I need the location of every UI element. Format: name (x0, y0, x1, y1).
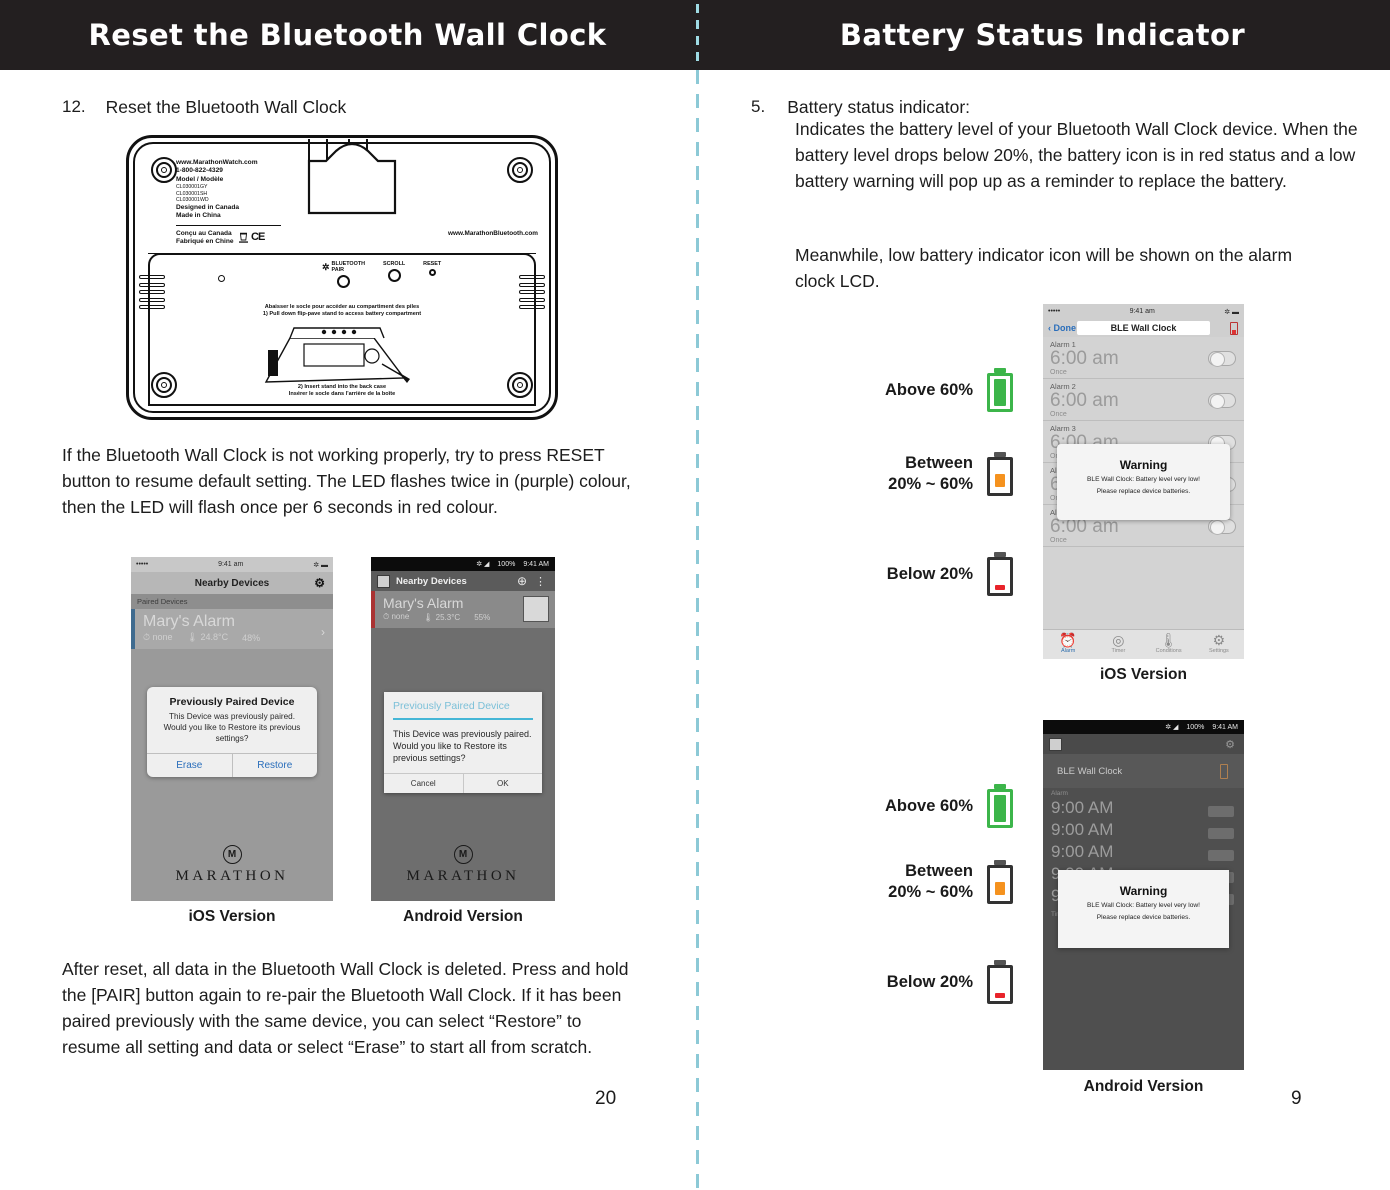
tab-conditions[interactable]: 🌡 Conditions (1144, 630, 1194, 659)
android2-action-bar: ⚙ (1043, 734, 1244, 754)
ios-dialog-buttons: Erase Restore (147, 753, 317, 777)
battery-full-icon (987, 368, 1013, 412)
scroll-button[interactable]: SCROLL (383, 261, 405, 282)
android-humidity: 55% (474, 613, 490, 622)
kebab-menu-icon[interactable]: ⋮ (535, 575, 546, 588)
clock-button-row: ✲ BLUETOOTH PAIR SCROLL RESET (322, 261, 441, 288)
battery-label-high: Above 60% (845, 380, 973, 401)
battery-legend-medium-1: Between 20% ~ 60% (845, 452, 1013, 496)
tab-settings-label: Settings (1194, 648, 1244, 654)
android2-caption: Android Version (1043, 1078, 1244, 1096)
ios-caption: iOS Version (131, 908, 333, 926)
list-item[interactable]: Alarm 1 6:00 am Once (1043, 337, 1244, 379)
pair-button-circle[interactable] (337, 275, 350, 288)
battery-low-icon (1220, 764, 1228, 779)
label-model-3: CL030001WD (176, 197, 326, 204)
ios-device-row[interactable]: Mary's Alarm ⏱ none 🌡 24.8°C 48% › (131, 609, 333, 649)
android-brand-block: M MARATHON (371, 829, 555, 901)
battery-empty-icon (987, 552, 1013, 596)
alarm-toggle[interactable] (1208, 850, 1234, 861)
plus-circle-icon[interactable]: ⊕ (517, 574, 527, 588)
ios-battery-icon: ✲ ▬ (313, 561, 328, 569)
ios2-status-bar: ••••• 9:41 am ✲ ▬ (1043, 304, 1244, 319)
ios2-status-time: 9:41 am (1130, 308, 1155, 315)
ios-status-bar: ••••• 9:41 am ✲ ▬ (131, 557, 333, 572)
list-item[interactable]: 9:00 AM (1043, 841, 1244, 863)
right-paragraph-1: Indicates the battery level of your Blue… (795, 116, 1360, 194)
android2-title: BLE Wall Clock (1057, 766, 1122, 777)
ios-device-meta: ⏱ none 🌡 24.8°C 48% (143, 632, 327, 643)
right-page: 5. Battery status indicator: Indicates t… (699, 70, 1390, 1190)
android-clock-screenshot: ✲ ◢ 100% 9:41 AM ⚙ BLE Wall Clock Alarm … (1043, 720, 1244, 1070)
label-model-2: CL030001SH (176, 191, 326, 198)
android-status-bar: ✲ ◢ 100% 9:41 AM (371, 557, 555, 571)
android-chart-thumb (523, 596, 549, 622)
ok-button[interactable]: OK (463, 774, 543, 793)
battery-half-icon (987, 860, 1013, 904)
battery-label-low: Below 20% (845, 972, 973, 993)
alarm-repeat: Once (1050, 537, 1237, 544)
ios2-signal-dots: ••••• (1048, 308, 1060, 315)
ce-mark-icon: CE (251, 231, 264, 243)
header-left: Reset the Bluetooth Wall Clock (0, 0, 695, 70)
ios-alarm-status: ⏱ none (143, 632, 173, 643)
weee-bin-icon (239, 231, 248, 243)
chevron-right-icon: › (321, 625, 325, 639)
label-model-1: CL030001GY (176, 184, 326, 191)
battery-low-red-icon (1230, 322, 1238, 335)
ios-brand-block: M MARATHON (131, 829, 333, 901)
warning-title: Warning (1057, 444, 1230, 472)
battery-label-medium: Between 20% ~ 60% (845, 861, 973, 903)
stand-note2-fr: Insérer le socle dans l'arrière de la bo… (126, 391, 558, 398)
battery-legend-high-2: Above 60% (845, 784, 1013, 828)
right-step-number: 5. (751, 94, 765, 120)
marathon-logo-icon: M (223, 845, 242, 864)
gear-icon[interactable]: ⚙ (314, 576, 325, 590)
ios-dialog-body: This Device was previously paired. Would… (147, 711, 317, 753)
alarm-toggle[interactable] (1208, 519, 1236, 534)
android2-status-time: 9:41 AM (1212, 724, 1238, 731)
label-bluetooth-website: www.MarathonBluetooth.com (448, 230, 538, 237)
ios-temp: 🌡 24.8°C (187, 632, 229, 643)
screw-top-right (507, 157, 533, 183)
gear-icon: ⚙ (1194, 633, 1244, 648)
android2-device-header: BLE Wall Clock (1043, 754, 1244, 788)
battery-legend-low-2: Below 20% (845, 960, 1013, 1004)
done-button[interactable]: ‹ Done (1048, 323, 1076, 333)
tab-conditions-label: Conditions (1144, 648, 1194, 654)
ios2-title: BLE Wall Clock (1077, 321, 1210, 335)
ios-status-time: 9:41 am (218, 561, 243, 568)
android2-status-bar: ✲ ◢ 100% 9:41 AM (1043, 720, 1244, 734)
battery-legend-medium-2: Between 20% ~ 60% (845, 860, 1013, 904)
clock-back-diagram: www.MarathonWatch.com 1-800-822-4329 Mod… (126, 135, 558, 420)
android-temp: 🌡 25.3°C (423, 613, 460, 622)
thermometer-icon: 🌡 (1144, 633, 1194, 648)
label-made: Made in China (176, 212, 326, 220)
android-caption: Android Version (371, 908, 555, 926)
label-phone: 1-800-822-4329 (176, 167, 326, 175)
ios-nav-bar: Nearby Devices ⚙ (131, 572, 333, 594)
battery-half-icon (987, 452, 1013, 496)
reset-label: RESET (423, 261, 441, 267)
tab-alarm-label: Alarm (1043, 648, 1093, 654)
android-dialog-title: Previously Paired Device (384, 692, 542, 718)
tab-timer-label: Timer (1093, 648, 1143, 654)
android2-status-icons: ✲ ◢ (1165, 723, 1178, 731)
ios-paired-dialog: Previously Paired Device This Device was… (147, 687, 317, 777)
android-paired-dialog: Previously Paired Device This Device was… (384, 692, 542, 793)
android-alarm-status: ⏱ none (383, 612, 409, 622)
android-warning-dialog: Warning BLE Wall Clock: Battery level ve… (1058, 870, 1229, 948)
scroll-button-circle[interactable] (388, 269, 401, 282)
android2-section-alarm: Alarm (1043, 788, 1244, 797)
battery-legend-high-1: Above 60% (845, 368, 1013, 412)
ios-device-name: Mary's Alarm (143, 613, 327, 631)
header-title-right: Battery Status Indicator (840, 18, 1245, 52)
label-model: Model / Modèle (176, 176, 326, 184)
left-step-title: Reset the Bluetooth Wall Clock (106, 94, 347, 120)
battery-legend-low-1: Below 20% (845, 552, 1013, 596)
android-status-time: 9:41 AM (523, 561, 549, 568)
app-icon (377, 575, 390, 588)
ios2-caption: iOS Version (1043, 666, 1244, 684)
android2-status-battery: 100% (1186, 724, 1204, 731)
panel-top-line (148, 253, 536, 254)
warning-title: Warning (1058, 870, 1229, 898)
android-status-icons: ✲ ◢ (476, 560, 489, 568)
ios2-battery-icon: ✲ ▬ (1224, 308, 1239, 316)
marathon-logo-icon: M (454, 845, 473, 864)
android-nav-title: Nearby Devices (396, 576, 467, 587)
android-dialog-buttons: Cancel OK (384, 773, 542, 793)
header-right: Battery Status Indicator (695, 0, 1390, 70)
ios-clock-screenshot: ••••• 9:41 am ✲ ▬ ‹ Done BLE Wall Clock … (1043, 304, 1244, 659)
marathon-wordmark: MARATHON (175, 868, 288, 885)
left-step-number: 12. (62, 94, 86, 120)
marathon-wordmark: MARATHON (406, 868, 519, 885)
right-page-number: 9 (1291, 1088, 1302, 1110)
erase-button[interactable]: Erase (147, 754, 232, 777)
ios-tab-bar: ⏰ Alarm ◎ Timer 🌡 Conditions ⚙ Settings (1043, 629, 1244, 659)
sensor-hole (218, 275, 225, 282)
warning-line-2: Please replace device batteries. (1057, 484, 1230, 496)
tab-alarm[interactable]: ⏰ Alarm (1043, 630, 1093, 659)
battery-label-high: Above 60% (845, 796, 973, 817)
tab-settings[interactable]: ⚙ Settings (1194, 630, 1244, 659)
warning-line-1: BLE Wall Clock: Battery level very low! (1058, 898, 1229, 910)
alarm-clock-icon: ⏰ (1043, 633, 1093, 648)
ios-app-screenshot: ••••• 9:41 am ✲ ▬ Nearby Devices ⚙ Paire… (131, 557, 333, 901)
vent-left (139, 275, 165, 321)
list-item[interactable]: 9:00 AM (1043, 819, 1244, 841)
alarm-toggle[interactable] (1208, 806, 1234, 817)
battery-label-medium: Between 20% ~ 60% (845, 453, 973, 495)
label-website: www.MarathonWatch.com (176, 159, 326, 167)
stand-note-en: 1) Pull down flip-pave stand to access b… (126, 311, 558, 318)
android-device-row[interactable]: Mary's Alarm ⏱ none 🌡 25.3°C 55% (371, 591, 555, 628)
stand-instruction-bottom: 2) Insert stand into the back case Insér… (126, 384, 558, 398)
android-app-screenshot: ✲ ◢ 100% 9:41 AM Nearby Devices ⊕ ⋮ Mary… (371, 557, 555, 901)
stand-note2-en: 2) Insert stand into the back case (126, 384, 558, 391)
vent-right (519, 275, 545, 321)
list-item[interactable]: Alarm 2 6:00 am Once (1043, 379, 1244, 421)
ios-humidity: 48% (242, 633, 260, 643)
alarm-toggle[interactable] (1208, 351, 1236, 366)
tab-timer[interactable]: ◎ Timer (1093, 630, 1143, 659)
alarm-repeat: Once (1050, 411, 1237, 418)
android-dialog-body: This Device was previously paired. Would… (384, 720, 542, 773)
alarm-toggle[interactable] (1208, 393, 1236, 408)
app-icon (1049, 738, 1062, 751)
label-designed: Designed in Canada (176, 204, 326, 212)
android-action-bar: Nearby Devices ⊕ ⋮ (371, 571, 555, 591)
gear-icon[interactable]: ⚙ (1225, 738, 1235, 751)
right-paragraph-2: Meanwhile, low battery indicator icon wi… (795, 242, 1335, 294)
alarm-toggle[interactable] (1208, 828, 1234, 839)
left-page-number: 20 (595, 1088, 616, 1110)
left-page: 12. Reset the Bluetooth Wall Clock www.M… (0, 70, 696, 1190)
header-divider (696, 4, 699, 66)
battery-empty-icon (987, 960, 1013, 1004)
ios-dialog-title: Previously Paired Device (147, 687, 317, 711)
left-paragraph-2: After reset, all data in the Bluetooth W… (62, 956, 637, 1060)
battery-label-low: Below 20% (845, 564, 973, 585)
certification-marks: CE (239, 231, 264, 243)
reset-button-circle[interactable] (429, 269, 436, 276)
stand-instruction-top: Abaisser le socle pour accéder au compar… (126, 304, 558, 318)
left-paragraph-1: If the Bluetooth Wall Clock is not worki… (62, 442, 632, 520)
battery-full-icon (987, 784, 1013, 828)
warning-line-2: Please replace device batteries. (1058, 910, 1229, 922)
android-status-battery: 100% (497, 561, 515, 568)
ios-nav-title: Nearby Devices (195, 578, 270, 589)
list-item[interactable]: 9:00 AM (1043, 797, 1244, 819)
cancel-button[interactable]: Cancel (384, 774, 463, 793)
ios-signal-dots: ••••• (136, 561, 148, 568)
warning-line-1: BLE Wall Clock: Battery level very low! (1057, 472, 1230, 484)
screw-top-left (151, 157, 177, 183)
stand-note-fr: Abaisser le socle pour accéder au compar… (126, 304, 558, 311)
scroll-label: SCROLL (383, 261, 405, 267)
left-step-heading: 12. Reset the Bluetooth Wall Clock (62, 94, 346, 120)
ios-warning-dialog: Warning BLE Wall Clock: Battery level ve… (1057, 444, 1230, 520)
page-header-band: Reset the Bluetooth Wall Clock Battery S… (0, 0, 1390, 70)
alarm-repeat: Once (1050, 369, 1237, 376)
bluetooth-pair-button[interactable]: ✲ BLUETOOTH PAIR (322, 261, 365, 288)
header-title-left: Reset the Bluetooth Wall Clock (89, 18, 607, 52)
reset-button[interactable]: RESET (423, 261, 441, 276)
restore-button[interactable]: Restore (232, 754, 318, 777)
ios2-nav-bar: ‹ Done BLE Wall Clock (1043, 319, 1244, 337)
ios-section-header: Paired Devices (131, 594, 333, 609)
bluetooth-icon: ✲ (322, 262, 330, 273)
bt-pair-label-2: PAIR (332, 267, 365, 273)
wall-hook-shape (306, 139, 398, 217)
timer-icon: ◎ (1093, 633, 1143, 648)
